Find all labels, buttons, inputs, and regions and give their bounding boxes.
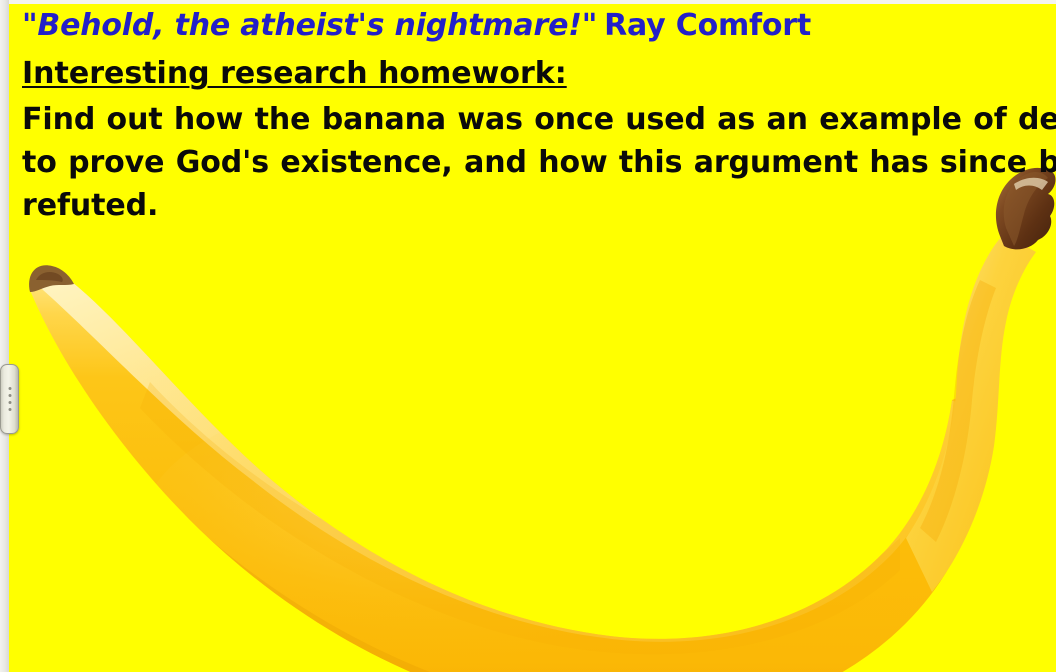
presentation-slide: "Behold, the atheist's nightmare!"Ray Co…: [0, 0, 1056, 672]
scroll-grip-dots: [8, 387, 11, 411]
banana-illustration: [0, 150, 1056, 672]
body-line-1: Find out how the banana was once used as…: [22, 98, 1036, 141]
homework-body: Find out how the banana was once used as…: [22, 98, 1036, 227]
title-quote-text: "Behold, the atheist's nightmare!": [22, 8, 597, 43]
banana-body: [29, 268, 996, 672]
banana-image: [0, 150, 1056, 672]
title-author-text: Ray Comfort: [597, 8, 811, 43]
banana-neck: [906, 234, 1036, 592]
body-line-2: to prove God's existence, and how this a…: [22, 141, 1036, 184]
body-line-3: refuted.: [22, 184, 1036, 227]
homework-heading: Interesting research homework:: [22, 55, 567, 93]
slide-left-border: [0, 0, 9, 672]
slide-top-border: [0, 0, 1056, 4]
slide-title: "Behold, the atheist's nightmare!"Ray Co…: [22, 8, 811, 44]
scroll-grip-handle[interactable]: [0, 364, 19, 434]
